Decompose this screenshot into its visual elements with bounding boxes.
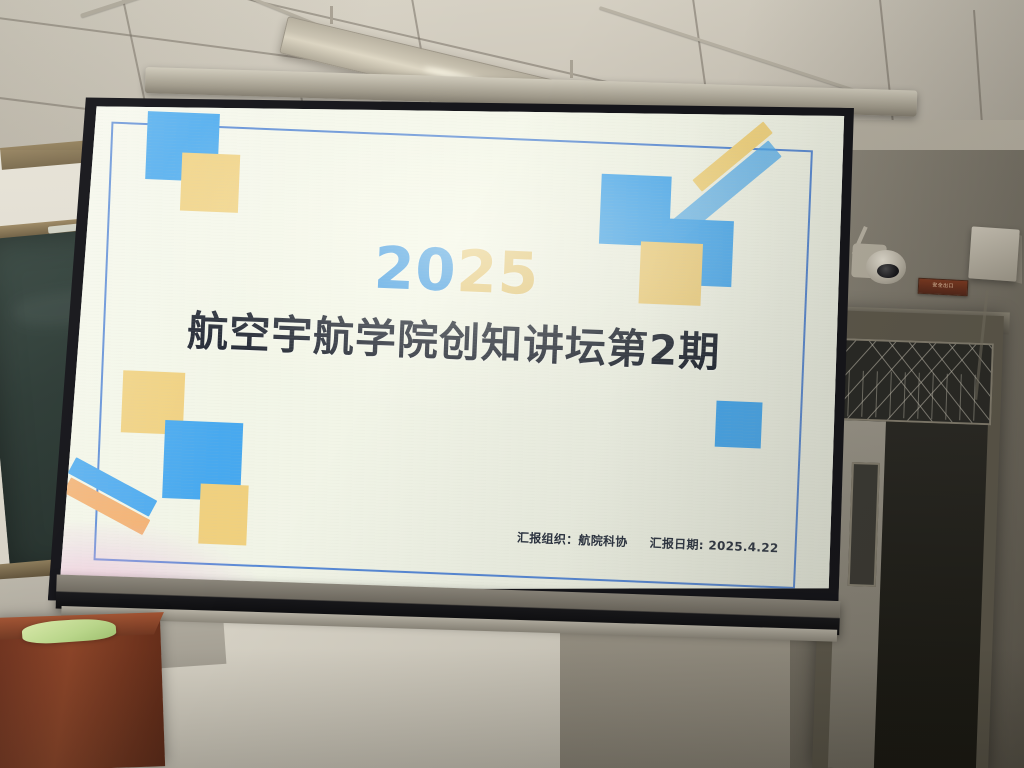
exit-sign-label: 安全出口 <box>919 279 968 293</box>
deco-square-blue-right <box>715 401 763 449</box>
deco-square-blue-top-right-a <box>599 174 672 247</box>
meta-organization-value: 航院科协 <box>578 533 628 549</box>
year-blue-part: 20 <box>373 234 458 305</box>
deco-square-yellow-bottom-left-2 <box>198 484 248 546</box>
projection-screen: 2025 航空宇航学院创知讲坛第2期 汇报组织：航院科协 汇报日期: 2025.… <box>47 62 869 659</box>
speaker-icon <box>968 226 1020 281</box>
screen-surface: 2025 航空宇航学院创知讲坛第2期 汇报组织：航院科协 汇报日期: 2025.… <box>48 76 859 633</box>
camera-lens-icon <box>877 264 899 278</box>
exit-sign: 安全出口 <box>918 278 969 297</box>
meta-date-value: 2025.4.22 <box>708 538 779 555</box>
deco-square-yellow-top-left <box>180 153 240 213</box>
presentation-slide: 2025 航空宇航学院创知讲坛第2期 汇报组织：航院科协 汇报日期: 2025.… <box>48 76 859 633</box>
classroom-scene: 安全出口 <box>0 0 1024 768</box>
meta-organization-label: 汇报组织： <box>517 531 579 548</box>
meta-date-label: 汇报日期: <box>649 536 704 552</box>
door-transom-grille <box>837 338 994 425</box>
year-gold-part: 25 <box>455 237 540 308</box>
